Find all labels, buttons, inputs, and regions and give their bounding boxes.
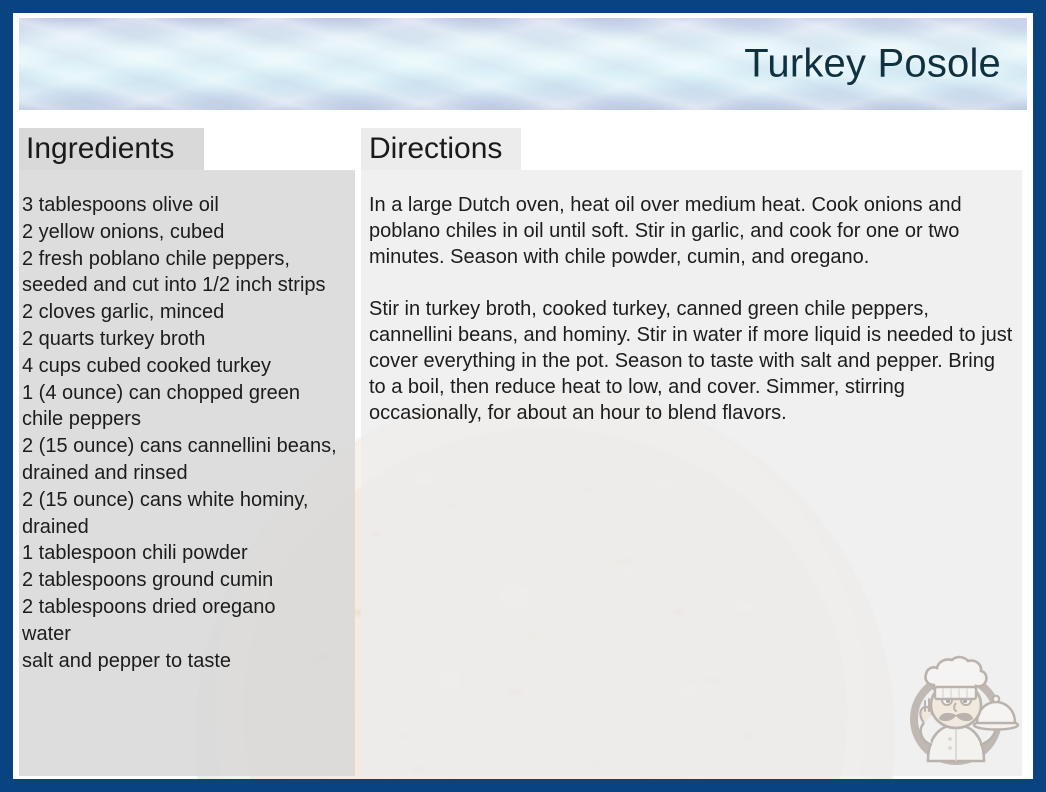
- ingredient-item: 2 tablespoons dried oregano: [22, 594, 342, 621]
- directions-text: In a large Dutch oven, heat oil over med…: [369, 192, 1017, 452]
- header-banner: Turkey Posole: [19, 18, 1027, 110]
- ingredients-list: 3 tablespoons olive oil2 yellow onions, …: [22, 192, 342, 674]
- recipe-card-page: Turkey Posole Ingredients 3 tablespoons …: [0, 0, 1046, 792]
- ingredient-item: 1 (4 ounce) can chopped green chile pepp…: [22, 380, 342, 434]
- ingredient-item: 2 (15 ounce) cans cannellini beans, drai…: [22, 433, 342, 487]
- ingredients-heading: Ingredients: [26, 132, 174, 166]
- ingredient-item: 2 (15 ounce) cans white hominy, drained: [22, 487, 342, 541]
- directions-heading: Directions: [369, 132, 502, 166]
- ingredient-item: water: [22, 621, 342, 648]
- chef-logo: [894, 645, 1022, 773]
- ingredient-item: 4 cups cubed cooked turkey: [22, 353, 342, 380]
- page-title: Turkey Posole: [744, 42, 1001, 87]
- ingredient-item: 2 fresh poblano chile peppers, seeded an…: [22, 246, 342, 300]
- ingredient-item: 2 yellow onions, cubed: [22, 219, 342, 246]
- ingredient-item: 2 quarts turkey broth: [22, 326, 342, 353]
- ingredient-item: 1 tablespoon chili powder: [22, 540, 342, 567]
- direction-paragraph: Stir in turkey broth, cooked turkey, can…: [369, 296, 1017, 426]
- frame-border-bottom: [0, 779, 1046, 792]
- ingredient-item: 3 tablespoons olive oil: [22, 192, 342, 219]
- frame-border-right: [1033, 0, 1046, 792]
- ingredient-item: 2 cloves garlic, minced: [22, 299, 342, 326]
- frame-border-left: [0, 0, 13, 792]
- ingredient-item: salt and pepper to taste: [22, 648, 342, 675]
- ingredient-item: 2 tablespoons ground cumin: [22, 567, 342, 594]
- frame-border-top: [0, 0, 1046, 13]
- direction-paragraph: In a large Dutch oven, heat oil over med…: [369, 192, 1017, 270]
